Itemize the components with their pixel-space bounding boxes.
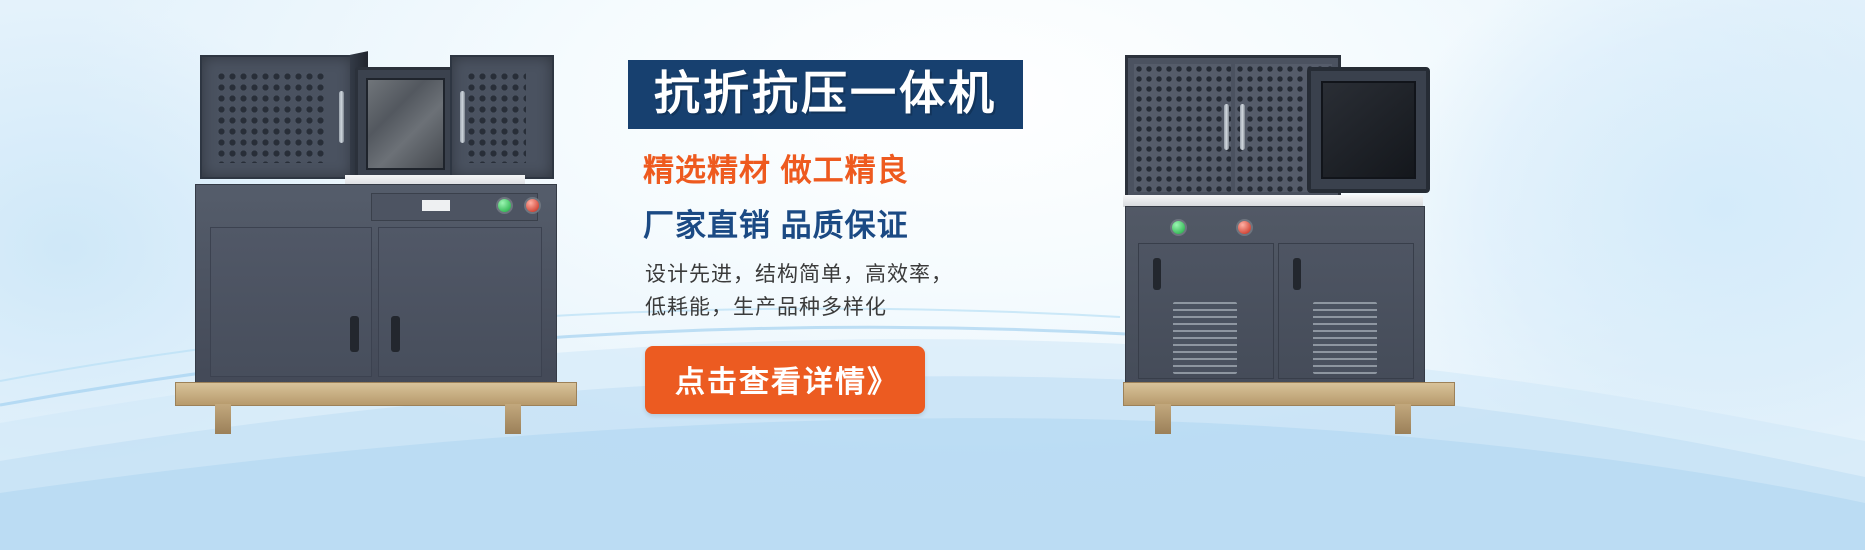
control-drawer [371, 193, 538, 221]
banner-text-content: 抗折抗压一体机 精选精材 做工精良 厂家直销 品质保证 设计先进，结构简单，高效… [615, 60, 1085, 414]
left-machine-pallet [175, 382, 577, 406]
perforated-panel [1134, 64, 1231, 192]
right-machine-door-left [1138, 243, 1274, 379]
perforated-panel [216, 71, 326, 163]
product-image-right-machine [1115, 45, 1465, 420]
right-machine-red-indicator [1236, 219, 1253, 236]
left-machine-door-right [378, 227, 542, 377]
left-machine-green-indicator [496, 197, 513, 214]
headline-banner: 抗折抗压一体机 [628, 60, 1023, 129]
right-machine-door-right [1278, 243, 1414, 379]
left-machine-top-cabinet-left [200, 55, 354, 179]
view-details-button[interactable]: 点击查看详情》 [645, 346, 925, 414]
pallet-leg [1155, 404, 1171, 434]
right-machine-main-body [1125, 206, 1425, 386]
ventilation-louvers [1173, 302, 1237, 374]
right-machine-pallet [1123, 382, 1455, 406]
promo-banner: 抗折抗压一体机 精选精材 做工精良 厂家直销 品质保证 设计先进，结构简单，高效… [0, 0, 1865, 550]
door-handle-icon [1293, 258, 1301, 290]
ventilation-louvers [1313, 302, 1377, 374]
perforated-panel [466, 71, 526, 163]
door-handle-icon [350, 316, 359, 352]
description-line-1: 设计先进，结构简单，高效率， [645, 259, 1085, 292]
description-text: 设计先进，结构简单，高效率， 低耗能，生产品种多样化 [645, 259, 1085, 324]
headline-title: 抗折抗压一体机 [654, 70, 997, 116]
drawer-label [422, 200, 450, 211]
pallet-leg [505, 404, 521, 434]
left-machine-monitor [355, 67, 456, 181]
door-handle-icon [391, 316, 400, 352]
subtitle-orange: 精选精材 做工精良 [643, 145, 1085, 190]
subtitle-blue: 厂家直销 品质保证 [643, 200, 1085, 245]
left-machine-red-indicator [524, 197, 541, 214]
pallet-leg [1395, 404, 1411, 434]
monitor-screen [366, 78, 445, 170]
right-machine-green-indicator [1170, 219, 1187, 236]
description-line-2: 低耗能，生产品种多样化 [645, 292, 1085, 325]
left-machine-top-cabinet-right [450, 55, 554, 179]
cabinet-handle-icon [339, 91, 344, 143]
cabinet-handle-icon [460, 91, 465, 143]
pallet-leg [215, 404, 231, 434]
right-machine-monitor [1307, 67, 1430, 193]
door-handle-icon [1153, 258, 1161, 290]
left-machine-door-left [210, 227, 372, 377]
cabinet-handle-icon [1240, 104, 1245, 150]
monitor-screen [1321, 81, 1416, 179]
cabinet-handle-icon [1224, 104, 1229, 150]
product-image-left-machine [165, 45, 585, 420]
left-machine-main-body [195, 184, 557, 386]
